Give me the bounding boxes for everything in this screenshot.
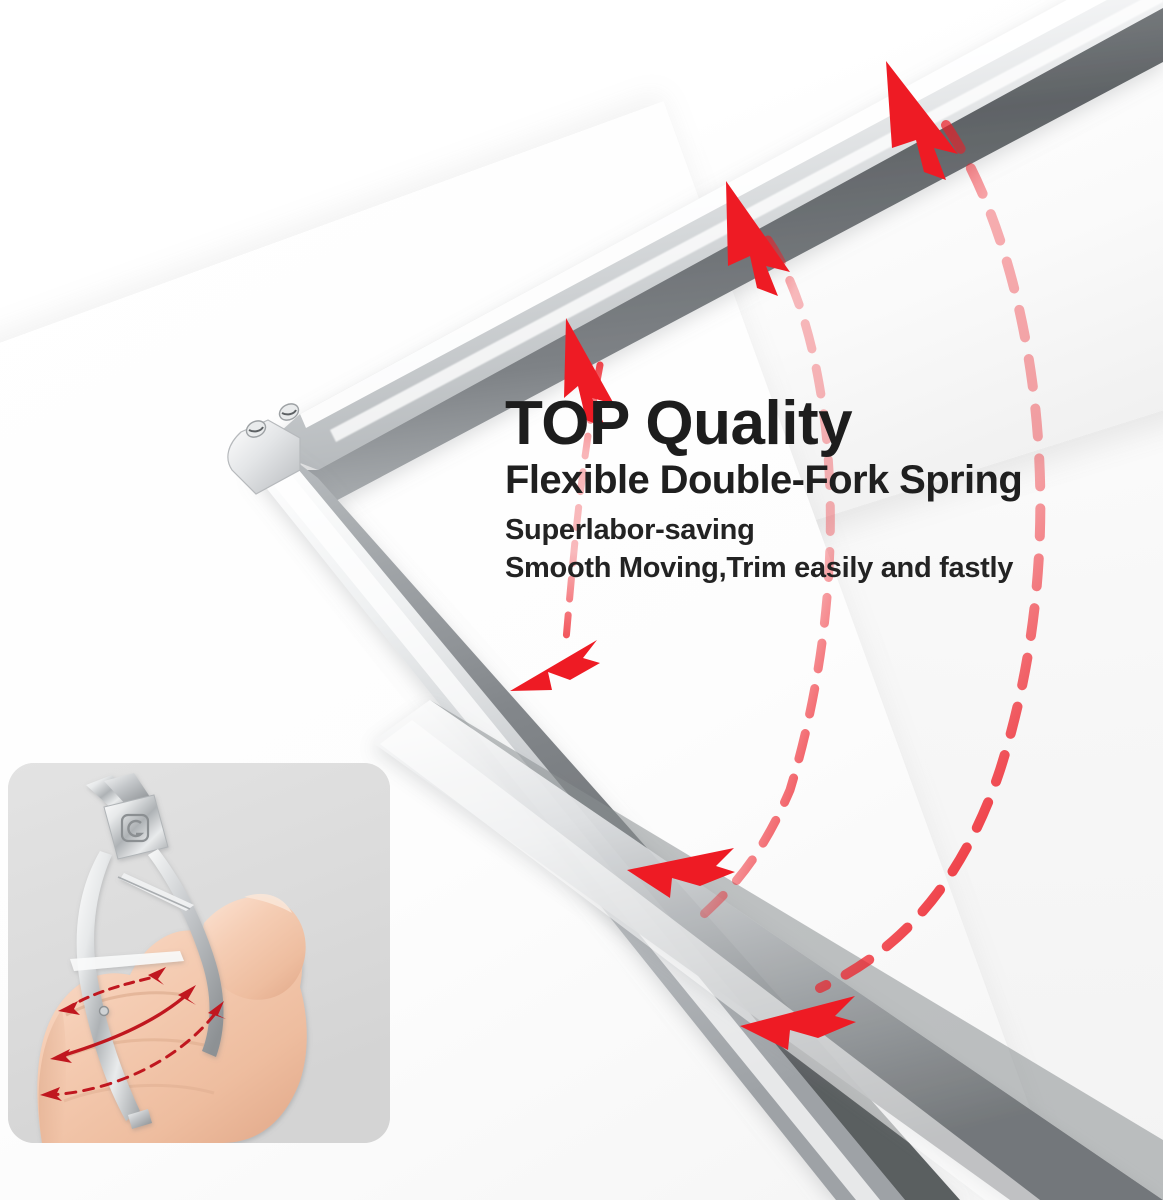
hand-holding-nipper-photo	[8, 763, 390, 1143]
product-banner: TOP Quality Flexible Double-Fork Spring …	[0, 0, 1163, 1200]
feature-bullet-2: Smooth Moving,Trim easily and fastly	[505, 550, 1125, 587]
page-title: TOP Quality	[505, 392, 1125, 455]
inset-pivot-rivet	[100, 1007, 109, 1016]
marketing-copy-block: TOP Quality Flexible Double-Fork Spring …	[505, 392, 1125, 587]
subtitle: Flexible Double-Fork Spring	[505, 459, 1125, 502]
feature-bullet-1: Superlabor-saving	[505, 512, 1125, 549]
